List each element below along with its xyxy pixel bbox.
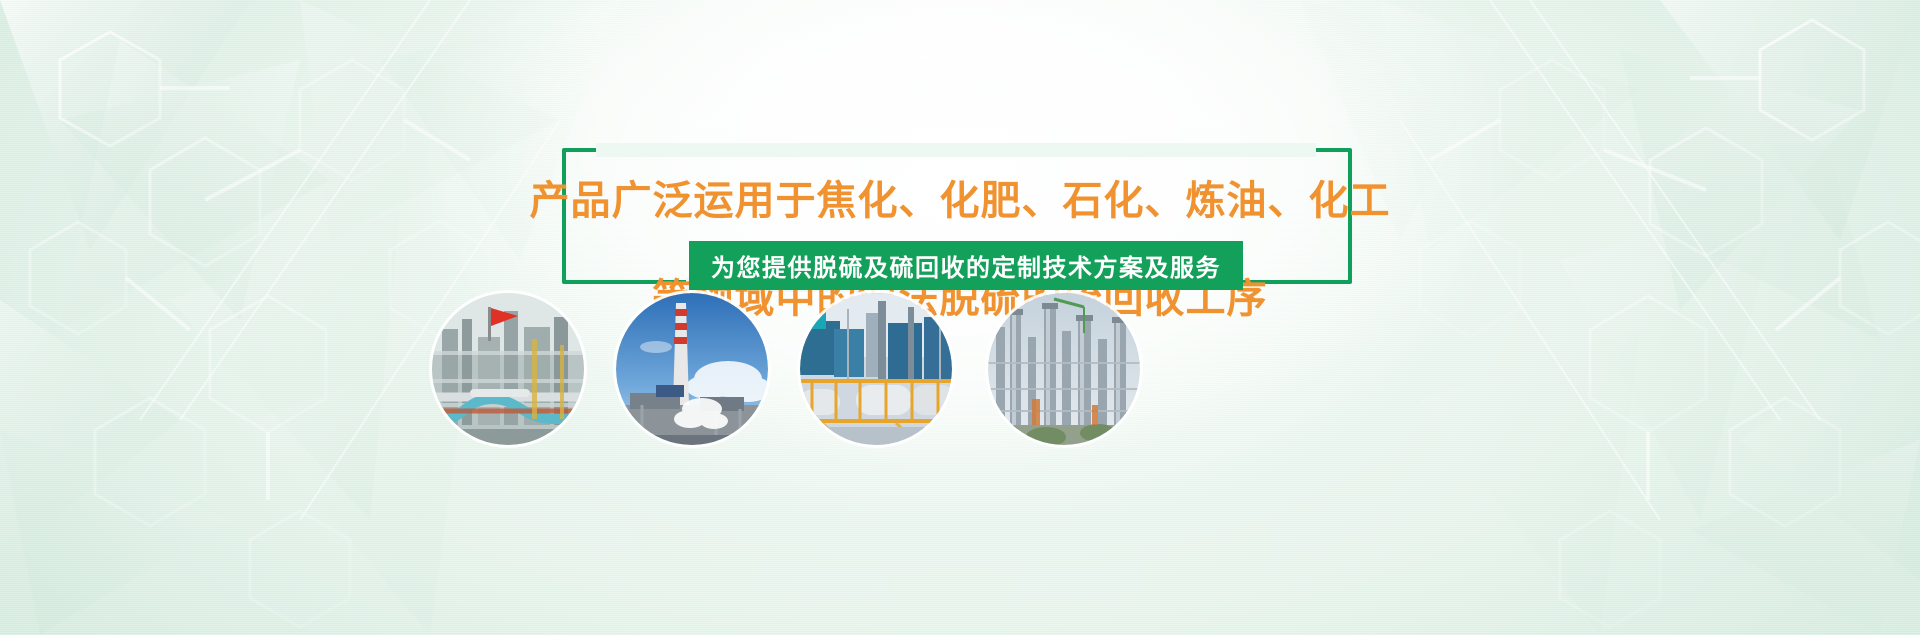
- hero-banner: 产品广泛运用于焦化、化肥、石化、炼油、化工 等领域中的湿法脱硫的硫回收工序 为您…: [0, 0, 1920, 635]
- headline-line-1: 产品广泛运用于焦化、化肥、石化、炼油、化工: [0, 177, 1920, 226]
- photo-refinery-towers[interactable]: [988, 293, 1140, 445]
- photo-chimney-blue-sky[interactable]: [616, 293, 768, 445]
- photo-storage-tanks-yellow-railings[interactable]: [800, 293, 952, 445]
- photo-refinery-pipes-red-flag[interactable]: [432, 293, 584, 445]
- cta-banner[interactable]: 为您提供脱硫及硫回收的定制技术方案及服务: [689, 241, 1243, 290]
- photo-gallery: [0, 293, 1920, 453]
